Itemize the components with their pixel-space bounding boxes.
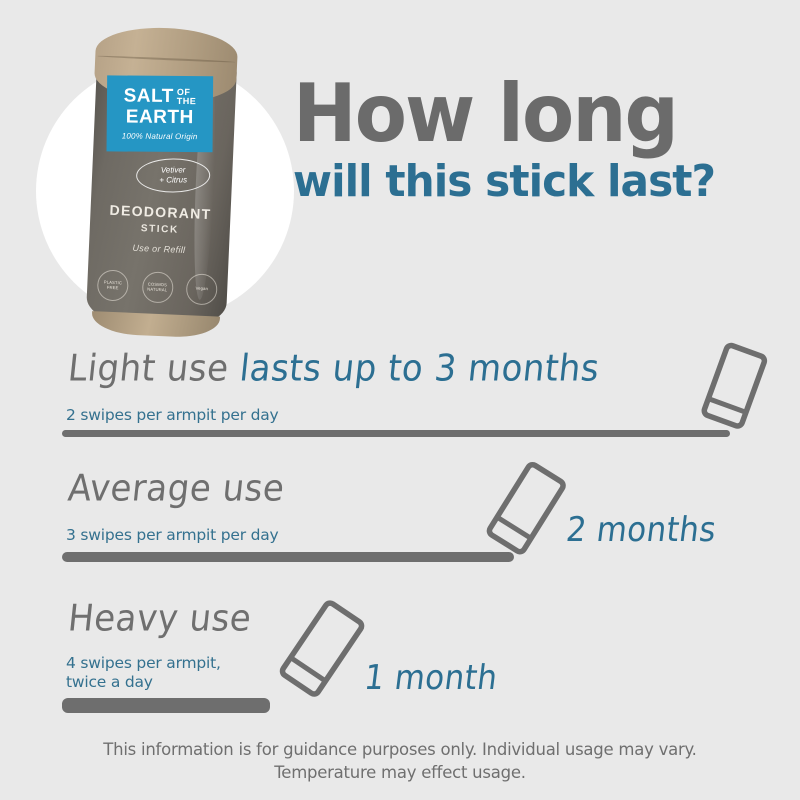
disclaimer-line-2: Temperature may effect usage.	[0, 761, 800, 784]
usage-row-light-use: Light use lasts up to 3 months 2 swipes …	[0, 344, 800, 456]
heavy-use-bar	[62, 698, 270, 713]
plastic-free-badge: PLASTIC FREE	[97, 269, 129, 301]
light-use-label: Light use	[66, 347, 231, 390]
brand-the: THE	[177, 96, 197, 106]
disclaimer-line-1: This information is for guidance purpose…	[0, 738, 800, 761]
heavy-use-duration: 1 month	[362, 658, 500, 698]
scent-line2: + Citrus	[159, 175, 187, 185]
light-use-duration: lasts up to 3 months	[238, 347, 602, 390]
average-use-stick-icon	[466, 460, 578, 570]
tube-base	[91, 311, 220, 339]
infographic-canvas: SALT OF THE EARTH 100% Natural Origin Ve…	[0, 0, 800, 800]
usage-rows: Light use lasts up to 3 months 2 swipes …	[0, 344, 800, 728]
vegan-badge: Vegan	[186, 273, 218, 305]
average-use-title: Average use	[66, 467, 287, 510]
headline: How long will this stick last?	[293, 78, 763, 204]
certification-badges: PLASTIC FREE COSMOS NATURAL Vegan	[97, 269, 218, 305]
product-image: SALT OF THE EARTH 100% Natural Origin Ve…	[77, 15, 247, 343]
brand-name-line1: SALT OF THE	[124, 87, 197, 107]
natural-origin-claim: 100% Natural Origin	[122, 132, 198, 142]
average-use-bar	[62, 552, 514, 562]
brand-of-the: OF THE	[177, 88, 197, 107]
brand-name-line2: EARTH	[126, 108, 194, 128]
usage-row-heavy-use: Heavy use 4 swipes per armpit, twice a d…	[0, 588, 800, 728]
disclaimer: This information is for guidance purpose…	[0, 738, 800, 785]
light-use-subtitle: 2 swipes per armpit per day	[66, 406, 279, 425]
cosmos-natural-badge: COSMOS NATURAL	[141, 271, 173, 303]
light-use-title: Light use lasts up to 3 months	[66, 347, 601, 390]
heavy-use-stick-icon	[256, 596, 378, 716]
headline-line-2: will this stick last?	[293, 160, 744, 204]
heavy-use-subtitle: 4 swipes per armpit, twice a day	[66, 654, 221, 692]
light-use-bar	[62, 430, 730, 437]
headline-line-1: How long	[293, 78, 740, 150]
average-use-duration: 2 months	[564, 510, 718, 550]
heavy-use-title: Heavy use	[66, 597, 254, 640]
brand-salt: SALT	[124, 87, 174, 106]
average-use-label: Average use	[66, 467, 287, 510]
usage-row-average-use: Average use 3 swipes per armpit per day …	[0, 456, 800, 588]
heavy-use-label: Heavy use	[66, 597, 254, 640]
scent-line1: Vetiver	[161, 165, 186, 175]
light-use-stick-icon	[676, 344, 786, 440]
brand-label: SALT OF THE EARTH 100% Natural Origin	[107, 75, 214, 152]
average-use-subtitle: 3 swipes per armpit per day	[66, 526, 279, 545]
